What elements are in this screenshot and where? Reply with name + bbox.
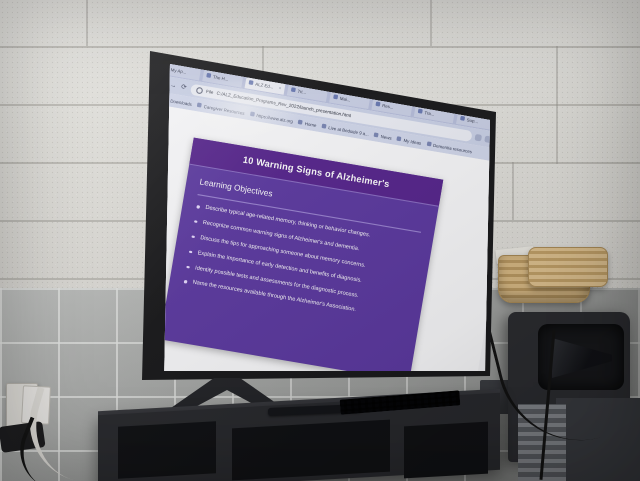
block-seam	[556, 46, 558, 164]
photo-scene: My Ap... The H... ALZ Ed... × Tri...	[0, 0, 640, 481]
block-seam	[512, 162, 514, 220]
credenza-open-shelf	[404, 422, 488, 479]
bezel-highlight	[128, 40, 500, 390]
credenza-panel	[118, 421, 216, 478]
credenza-open-shelf	[232, 420, 390, 481]
wicker-basket-small	[528, 247, 608, 287]
television: My Ap... The H... ALZ Ed... × Tri...	[128, 40, 500, 390]
block-seam	[86, 0, 88, 46]
